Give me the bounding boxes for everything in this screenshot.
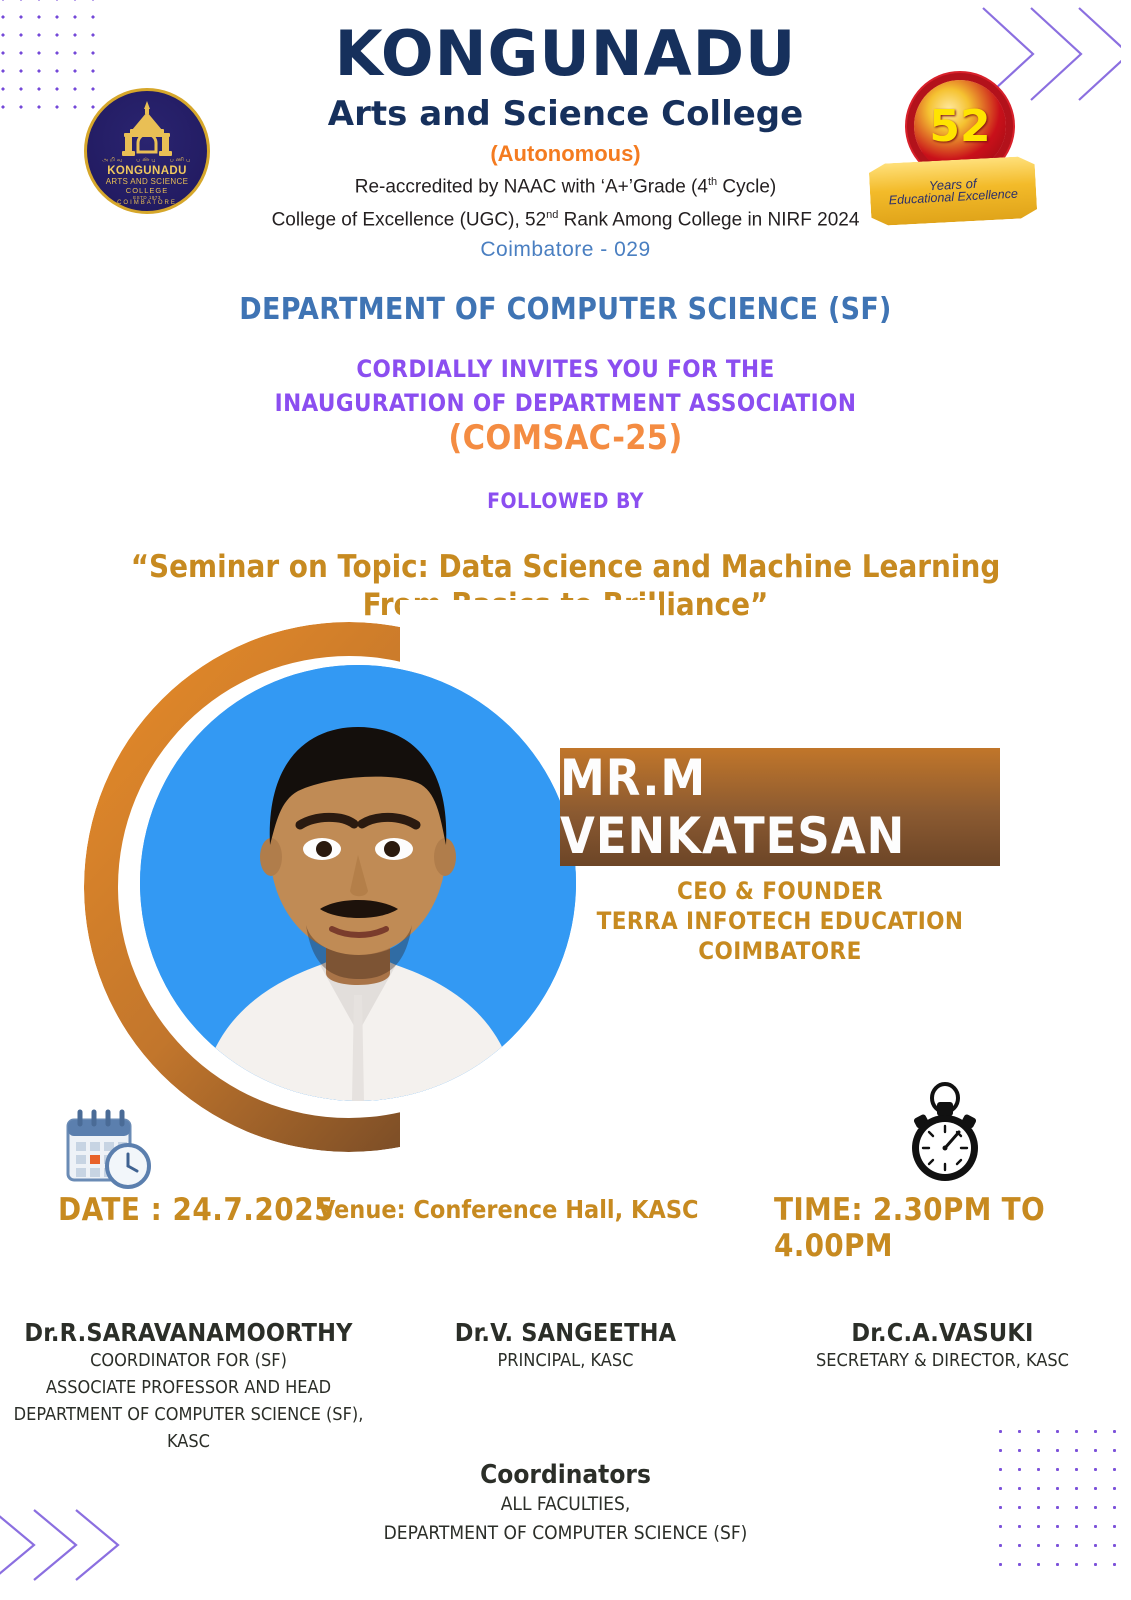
event-time: TIME: 2.30PM TO 4.00PM [774,1192,1131,1264]
signatory-line: PRINCIPAL, KASC [377,1347,754,1374]
poster-header: KONGUNADU Arts and Science College (Auto… [0,0,1131,265]
signatory-line: DEPARTMENT OF COMPUTER SCIENCE (SF), [0,1401,377,1428]
accreditation-text: Re-accredited by NAAC with ‘A+’Grade (4 [355,176,708,197]
speaker-role-line1: CEO & FOUNDER [560,876,1000,906]
coordinators-line2: DEPARTMENT OF COMPUTER SCIENCE (SF) [0,1519,1131,1548]
invitation-line2: INAUGURATION OF DEPARTMENT ASSOCIATION [0,386,1131,420]
signatory-block: Dr.V. SANGEETHA PRINCIPAL, KASC [377,1318,754,1455]
signatory-name: Dr.C.A.VASUKI [754,1318,1131,1347]
speaker-role: CEO & FOUNDER TERRA INFOTECH EDUCATION C… [560,876,1000,966]
department-title: DEPARTMENT OF COMPUTER SCIENCE (SF) [0,292,1131,327]
signatory-row: Dr.R.SARAVANAMOORTHY COORDINATOR FOR (SF… [0,1318,1131,1455]
speaker-name: MR.M VENKATESAN [560,749,1000,865]
city-line: Coimbatore - 029 [0,235,1131,265]
followed-by-label: FOLLOWED BY [0,489,1131,513]
accreditation-line: Re-accredited by NAAC with ‘A+’Grade (4t… [0,168,1131,201]
invitation-text: CORDIALLY INVITES YOU FOR THE INAUGURATI… [0,352,1131,420]
signatory-line: SECRETARY & DIRECTOR, KASC [754,1347,1131,1374]
excellence-tail: Rank Among College in NIRF 2024 [558,210,859,231]
excellence-sup: nd [546,209,558,221]
seminar-topic-line1: “Seminar on Topic: Data Science and Mach… [0,548,1131,586]
invitation-line1: CORDIALLY INVITES YOU FOR THE [0,352,1131,386]
stopwatch-icon [895,1082,995,1186]
signatory-name: Dr.R.SARAVANAMOORTHY [0,1318,377,1347]
coordinators-block: Coordinators ALL FACULTIES, DEPARTMENT O… [0,1460,1131,1548]
event-venue: Venue: Conference Hall, KASC [318,1195,699,1224]
event-date: DATE : 24.7.2025 [58,1192,334,1228]
college-name: KONGUNADU [0,22,1131,86]
speaker-role-line2: TERRA INFOTECH EDUCATION [560,906,1000,936]
excellence-line: College of Excellence (UGC), 52nd Rank A… [0,201,1131,234]
speaker-portrait-icon [140,665,576,1101]
signatory-block: Dr.C.A.VASUKI SECRETARY & DIRECTOR, KASC [754,1318,1131,1455]
speaker-photo [140,665,576,1101]
event-poster: அறிவு பண்பு பணிபு KONGUNADU ARTS AND SCI… [0,0,1131,1600]
autonomous-tag: (Autonomous) [0,140,1131,168]
coordinators-line1: ALL FACULTIES, [0,1490,1131,1519]
college-subtitle: Arts and Science College [0,92,1131,136]
association-code: (COMSAC-25) [0,418,1131,458]
coordinators-title: Coordinators [0,1460,1131,1490]
calendar-clock-icon [62,1108,154,1190]
signatory-name: Dr.V. SANGEETHA [377,1318,754,1347]
signatory-block: Dr.R.SARAVANAMOORTHY COORDINATOR FOR (SF… [0,1318,377,1455]
accreditation-sup: th [708,176,717,188]
signatory-line: KASC [0,1428,377,1455]
speaker-name-banner: MR.M VENKATESAN [560,748,1000,866]
speaker-role-line3: COIMBATORE [560,936,1000,966]
accreditation-tail: Cycle) [717,176,776,197]
signatory-line: ASSOCIATE PROFESSOR AND HEAD [0,1374,377,1401]
logistics-strip: DATE : 24.7.2025 Venue: Conference Hall,… [0,1192,1131,1232]
signatory-line: COORDINATOR FOR (SF) [0,1347,377,1374]
excellence-text: College of Excellence (UGC), 52 [272,210,547,231]
